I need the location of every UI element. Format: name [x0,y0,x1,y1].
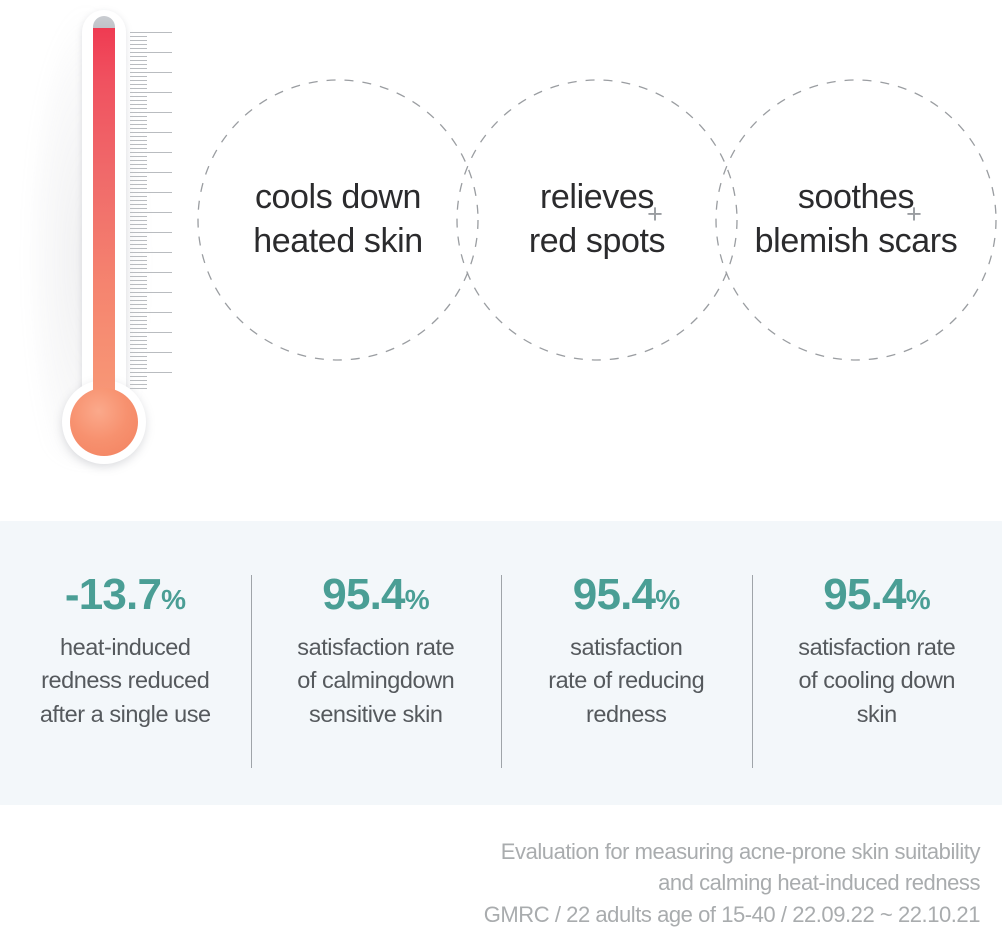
scale-tick [130,388,147,389]
scale-tick [130,360,147,361]
scale-tick [130,316,147,317]
scale-tick [130,384,147,385]
scale-tick [130,280,147,281]
scale-tick [130,120,147,121]
scale-tick [130,328,147,329]
scale-tick [130,372,172,373]
stat-label: satisfaction rate of calmingdown sensiti… [259,631,494,731]
scale-tick [130,200,147,201]
scale-tick [130,92,172,93]
scale-tick [130,264,147,265]
stat-number: 95.4 [573,570,655,619]
stat-value: 95.4% [259,573,494,617]
scale-tick [130,60,147,61]
thermometer-liquid-stem [93,28,115,418]
scale-tick [130,116,147,117]
scale-tick [130,312,172,313]
scale-tick [130,324,147,325]
scale-tick [130,272,172,273]
scale-tick [130,144,147,145]
stat-value: -13.7% [8,573,243,617]
scale-tick [130,196,147,197]
scale-tick [130,232,172,233]
scale-tick [130,276,147,277]
benefit-circles-group: cools down heated skin relieves red spot… [196,78,1002,370]
scale-tick [130,192,172,193]
scale-tick [130,36,147,37]
scale-tick [130,356,147,357]
thermometer-scale [130,32,178,390]
scale-tick [130,228,147,229]
scale-tick [130,340,147,341]
scale-tick [130,344,147,345]
scale-tick [130,180,147,181]
scale-tick [130,112,172,113]
scale-tick [130,132,172,133]
scale-tick [130,148,147,149]
stat-item-satisfaction-reducing-redness: 95.4% satisfaction rate of reducing redn… [501,521,752,731]
stat-unit: % [161,584,186,615]
scale-tick [130,224,147,225]
scale-tick [130,220,147,221]
scale-tick [130,172,172,173]
stat-unit: % [405,584,430,615]
plus-icon: + [902,202,926,226]
scale-tick [130,376,147,377]
stat-item-satisfaction-calming-sensitive-skin: 95.4% satisfaction rate of calmingdown s… [251,521,502,731]
scale-tick [130,204,147,205]
scale-tick [130,164,147,165]
scale-tick [130,260,147,261]
scale-tick [130,348,147,349]
scale-tick [130,156,147,157]
stats-row: -13.7% heat-induced redness reduced afte… [0,521,1002,805]
scale-tick [130,320,147,321]
benefit-label-2: relieves red spots [455,78,739,362]
scale-tick [130,380,147,381]
stat-number: 95.4 [823,570,905,619]
stat-value: 95.4% [760,573,995,617]
scale-tick [130,64,147,65]
scale-tick [130,240,147,241]
benefit-circle-soothes: soothes blemish scars [714,78,998,362]
stat-unit: % [906,584,931,615]
scale-tick [130,32,172,33]
plus-icon: + [643,202,667,226]
scale-tick [130,336,147,337]
stat-label: satisfaction rate of reducing redness [509,631,744,731]
stat-value: 95.4% [509,573,744,617]
benefit-label-1: cools down heated skin [196,78,480,362]
stats-panel: -13.7% heat-induced redness reduced afte… [0,521,1002,805]
stat-number: 95.4 [322,570,404,619]
scale-tick [130,252,172,253]
scale-tick [130,44,147,45]
thermometer-bulb [70,388,138,456]
scale-tick [130,88,147,89]
scale-tick [130,76,147,77]
scale-tick [130,136,147,137]
stat-label: satisfaction rate of cooling down skin [760,631,995,731]
scale-tick [130,72,172,73]
scale-tick [130,188,147,189]
scale-tick [130,168,147,169]
scale-tick [130,80,147,81]
scale-tick [130,124,147,125]
scale-tick [130,296,147,297]
scale-tick [130,176,147,177]
scale-tick [130,48,147,49]
scale-tick [130,268,147,269]
scale-tick [130,104,147,105]
stat-number: -13.7 [65,570,161,619]
scale-tick [130,244,147,245]
scale-tick [130,284,147,285]
scale-tick [130,288,147,289]
scale-tick [130,160,147,161]
scale-tick [130,68,147,69]
scale-tick [130,184,147,185]
scale-tick [130,292,172,293]
scale-tick [130,152,172,153]
study-footnote: Evaluation for measuring acne-prone skin… [240,836,980,930]
scale-tick [130,108,147,109]
scale-tick [130,304,147,305]
benefit-label-3: soothes blemish scars [714,78,998,362]
stat-item-satisfaction-cooling-down-skin: 95.4% satisfaction rate of cooling down … [752,521,1002,731]
scale-tick [130,52,172,53]
scale-tick [130,212,172,213]
scale-tick [130,332,172,333]
scale-tick [130,256,147,257]
thermometer-icon [0,0,200,480]
scale-tick [130,128,147,129]
scale-tick [130,248,147,249]
stat-unit: % [655,584,680,615]
scale-tick [130,300,147,301]
scale-tick [130,352,172,353]
scale-tick [130,208,147,209]
scale-tick [130,56,147,57]
scale-tick [130,216,147,217]
scale-tick [130,100,147,101]
scale-tick [130,308,147,309]
scale-tick [130,236,147,237]
stat-label: heat-induced redness reduced after a sin… [8,631,243,731]
scale-tick [130,140,147,141]
benefit-circle-relieves: relieves red spots [455,78,739,362]
stat-item-heat-induced-redness-reduced: -13.7% heat-induced redness reduced afte… [0,521,251,731]
scale-tick [130,364,147,365]
benefit-circle-cools-down: cools down heated skin [196,78,480,362]
scale-tick [130,96,147,97]
scale-tick [130,40,147,41]
scale-tick [130,84,147,85]
scale-tick [130,368,147,369]
